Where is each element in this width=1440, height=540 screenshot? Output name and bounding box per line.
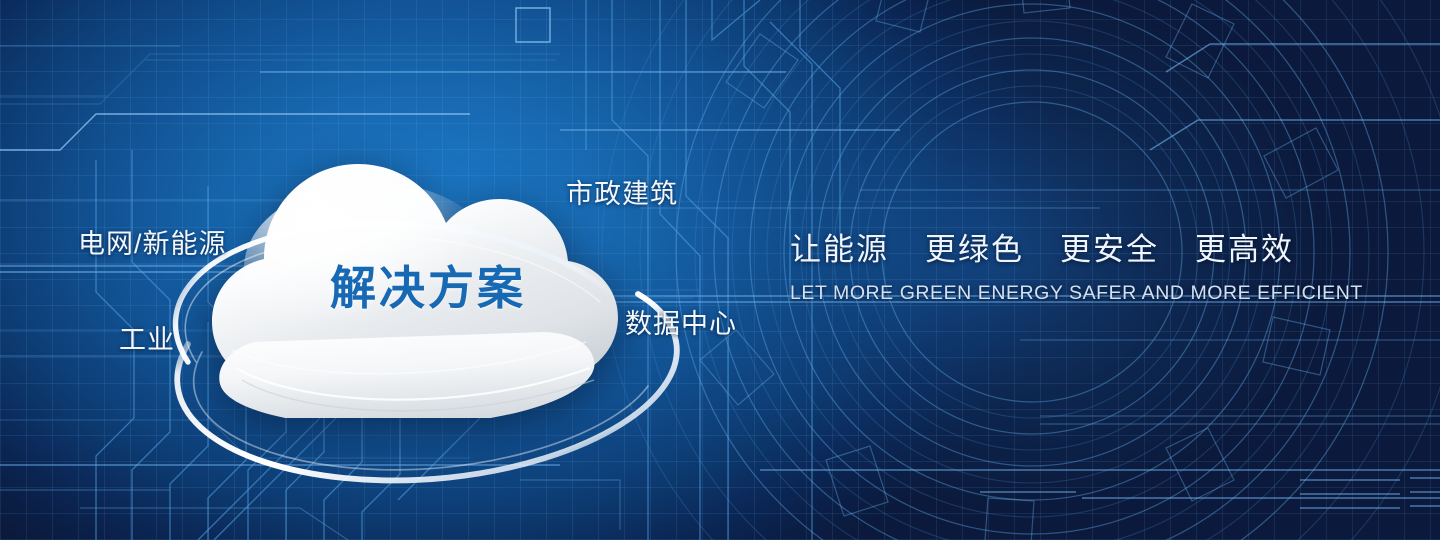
slogan-part-2: 更绿色 [925,224,1024,269]
label-municipal: 市政建筑 [566,172,678,211]
label-grid-energy: 电网/新能源 [78,222,227,261]
slogan-part-1: 让能源 [790,224,889,269]
label-industry: 工业 [119,318,175,357]
label-datacenter: 数据中心 [625,302,737,341]
slogan-part-4: 更高效 [1195,224,1294,269]
solution-banner: 解决方案 电网/新能源 工业 市政建筑 数据中心 让能源 更绿色 更安全 更高效… [0,0,1440,540]
slogan-english: LET MORE GREEN ENERGY SAFER AND MORE EFF… [790,282,1330,305]
slogan-part-3: 更安全 [1060,224,1159,269]
cloud-title: 解决方案 [330,252,526,318]
slogan-block: 让能源 更绿色 更安全 更高效 LET MORE GREEN ENERGY SA… [790,224,1330,305]
slogan-chinese: 让能源 更绿色 更安全 更高效 [790,224,1330,269]
